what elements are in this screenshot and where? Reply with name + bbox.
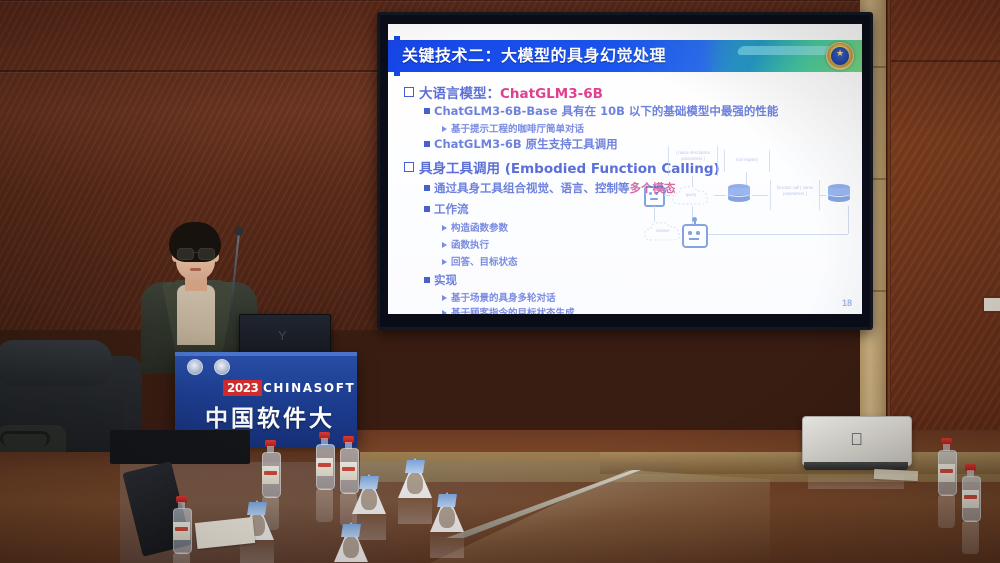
arrow-bullet-icon xyxy=(442,310,447,314)
square-bullet-icon xyxy=(424,277,430,283)
macbook-laptop[interactable]:  xyxy=(802,416,910,472)
tool-spec-label: { name description parameters } xyxy=(671,150,715,163)
university-emblem-icon: ★ xyxy=(826,42,854,70)
square-outline-bullet-icon xyxy=(404,87,414,97)
conference-year-badge: 2023 xyxy=(223,380,262,396)
conference-brand-en: CHINASOFT xyxy=(263,381,355,395)
square-bullet-icon xyxy=(424,141,430,147)
band-highlight-stripe xyxy=(736,46,836,55)
bullet-l3-multiturn: 基于场景的具身多轮对话 xyxy=(442,290,556,304)
function-calling-flow-diagram: { name description parameters } tool reg… xyxy=(640,144,858,262)
function-call-box: function call { name parameters } xyxy=(770,180,820,210)
tool-spec-box: { name description parameters } xyxy=(668,146,718,176)
backpack-strap xyxy=(0,431,50,446)
square-bullet-icon xyxy=(424,206,430,212)
square-outline-bullet-icon xyxy=(404,162,414,172)
query-cloud-icon: query xyxy=(670,184,712,208)
organization-logo-icon-2 xyxy=(214,359,230,375)
bullet-l3-prompt-dialog: 基于提示工程的咖啡厅简单对话 xyxy=(442,121,584,135)
legion-logo-icon: Y xyxy=(278,329,292,342)
presenter-eyebrow xyxy=(178,244,191,246)
slide-title: 关键技术二：大模型的具身幻觉处理 xyxy=(402,41,666,71)
eyeglasses-icon xyxy=(176,248,215,259)
bullet-l3-goalstate: 基于顾客指令的目标状态生成 xyxy=(442,305,575,314)
slide-page-number: 18 xyxy=(842,298,852,308)
bullet-l3-build-args: 构造函数参数 xyxy=(442,220,508,234)
wall-switch-plate[interactable] xyxy=(982,296,1000,313)
bullet-l2-native-tools: ChatGLM3-6B 原生支持工具调用 xyxy=(424,136,618,152)
dark-desk-object xyxy=(110,430,250,464)
name-card-holder xyxy=(352,474,386,514)
organization-logo-icon xyxy=(187,359,203,375)
function-call-label: function call { name parameters } xyxy=(773,185,817,198)
chair-headrest xyxy=(0,340,112,386)
square-bullet-icon xyxy=(424,185,430,191)
arrow-bullet-icon xyxy=(442,295,447,301)
answer-cloud-icon: answer xyxy=(642,220,684,244)
presenter-mouth xyxy=(190,268,201,271)
presenter-eyebrow xyxy=(199,244,212,246)
database-icon xyxy=(728,184,750,204)
user-face-icon xyxy=(644,186,665,207)
answer-label: answer xyxy=(651,228,675,234)
conference-room-scene: 关键技术二：大模型的具身幻觉处理 ★ 大语言模型：ChatGLM3-6B Cha… xyxy=(0,0,1000,563)
wall-panel-seam xyxy=(891,60,1000,62)
bullet-l2-workflow: 工作流 xyxy=(424,201,469,217)
name-card-holder xyxy=(398,458,432,498)
name-card-holder xyxy=(430,492,464,532)
robot-icon xyxy=(682,224,708,248)
arrow-bullet-icon xyxy=(442,259,447,265)
slide-canvas: 关键技术二：大模型的具身幻觉处理 ★ 大语言模型：ChatGLM3-6B Cha… xyxy=(388,24,862,314)
lectern-logos xyxy=(187,359,230,375)
arrow-bullet-icon xyxy=(442,242,447,248)
arrow-bullet-icon xyxy=(442,126,447,132)
tool-registry-box: tool registry xyxy=(724,150,770,172)
arrow-bullet-icon xyxy=(442,225,447,231)
tool-registry-label: tool registry xyxy=(727,157,767,163)
database-icon-2 xyxy=(828,184,850,204)
square-bullet-icon xyxy=(424,108,430,114)
query-label: query xyxy=(680,192,702,198)
name-card-holder xyxy=(334,522,368,562)
bullet-l2-modalities: 通过具身工具组合视觉、语言、控制等多个模态 xyxy=(424,180,676,196)
bullet-l3-answer-state: 回答、目标状态 xyxy=(442,254,518,268)
presenter-shirt xyxy=(177,285,215,345)
right-wall-panel xyxy=(886,0,1000,470)
presentation-display: 关键技术二：大模型的具身幻觉处理 ★ 大语言模型：ChatGLM3-6B Cha… xyxy=(377,12,873,330)
bullet-l3-exec: 函数执行 xyxy=(442,237,489,251)
wall-panel-edge xyxy=(886,0,891,470)
apple-logo-icon:  xyxy=(848,430,865,450)
bullet-l2-base-perf: ChatGLM3-6B-Base 具有在 10B 以下的基础模型中最强的性能 xyxy=(424,103,778,119)
wall-seam xyxy=(0,0,868,1)
bullet-l2-impl: 实现 xyxy=(424,272,457,288)
bullet-l1-llm: 大语言模型：ChatGLM3-6B xyxy=(404,82,603,102)
lenovo-legion-laptop[interactable]: Y xyxy=(239,314,331,356)
macbook-base xyxy=(804,462,908,470)
